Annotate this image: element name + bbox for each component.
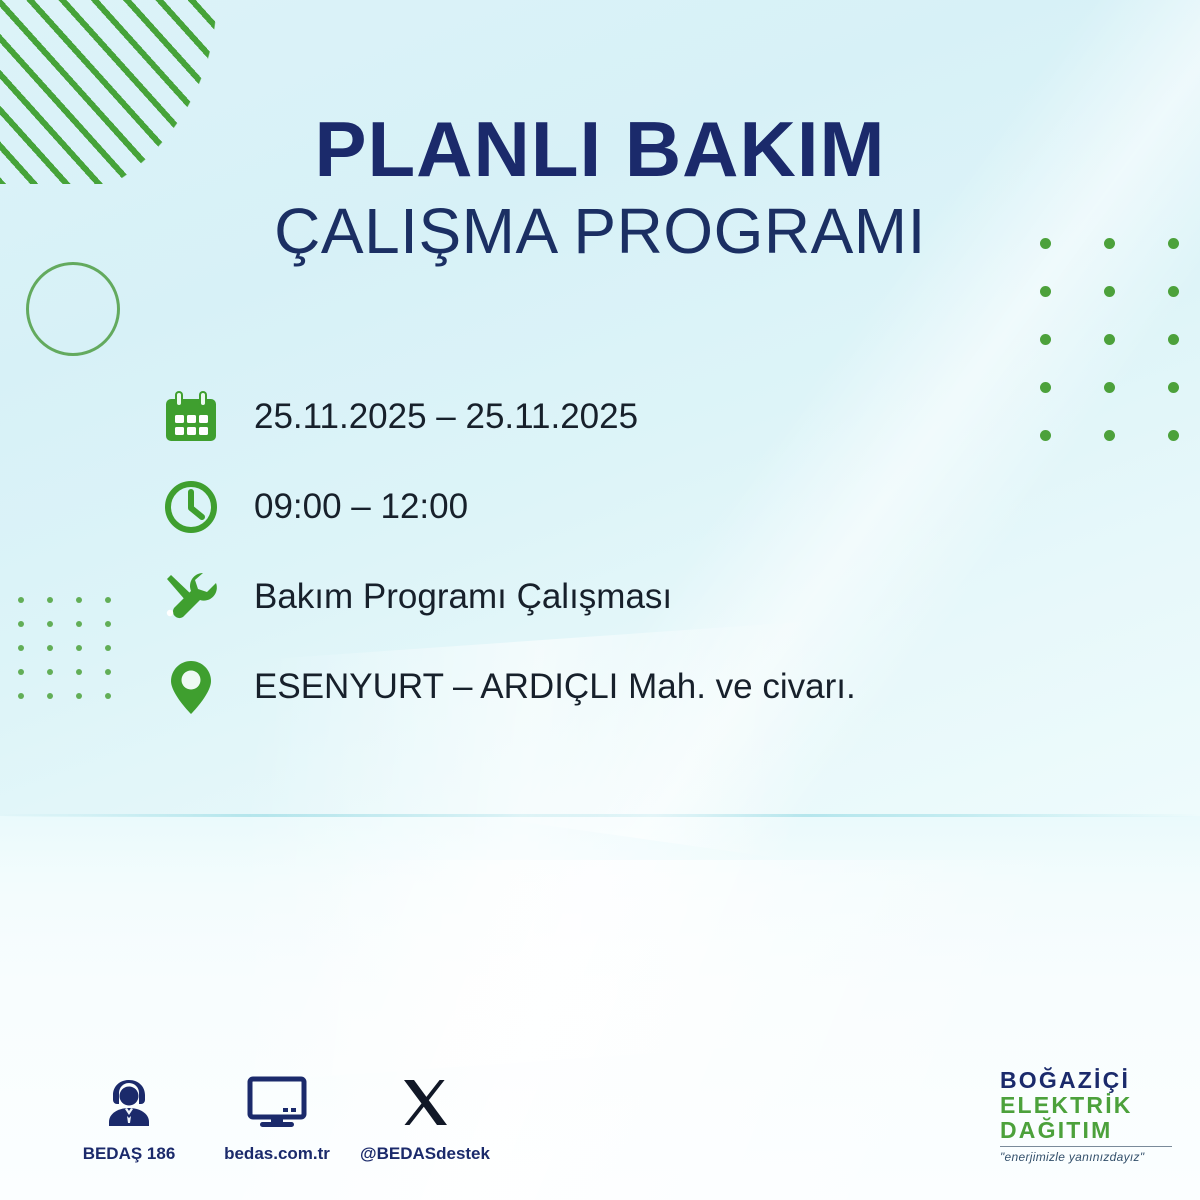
- contact-website[interactable]: bedas.com.tr: [203, 1072, 351, 1164]
- dot-grid-left-decoration: [18, 597, 134, 717]
- time-range-value: 09:00 – 12:00: [254, 487, 468, 527]
- footer-contact-strip: BEDAŞ 186 bedas.com.tr @BEDASdestek: [55, 1072, 499, 1164]
- location-pin-icon: [162, 651, 234, 723]
- dot-decoration: [1104, 286, 1115, 297]
- circle-outline-decoration: [26, 262, 120, 356]
- date-range-value: 25.11.2025 – 25.11.2025: [254, 397, 638, 437]
- planned-maintenance-poster: PLANLI BAKIM ÇALIŞMA PROGRAMI: [0, 0, 1200, 1200]
- page-subtitle: ÇALIŞMA PROGRAMI: [0, 198, 1200, 265]
- dot-decoration: [1168, 382, 1179, 393]
- dot-decoration: [47, 645, 53, 651]
- calendar-icon: [162, 381, 234, 453]
- dot-decoration: [47, 693, 53, 699]
- dot-decoration: [1040, 334, 1051, 345]
- contact-social[interactable]: @BEDASdestek: [351, 1072, 499, 1164]
- brand-tagline: "enerjimizle yanınızdayız": [1000, 1150, 1180, 1164]
- monitor-icon: [247, 1072, 307, 1134]
- location-value: ESENYURT – ARDIÇLI Mah. ve civarı.: [254, 667, 856, 707]
- brand-line-dagitim: DAĞITIM: [1000, 1118, 1180, 1143]
- clock-icon: [162, 471, 234, 543]
- brand-line-elektrik: ELEKTRİK: [1000, 1093, 1180, 1118]
- info-row-work-type: Bakım Programı Çalışması: [162, 552, 1112, 642]
- bedas-brand-logo: BOĞAZİÇİ ELEKTRİK DAĞITIM "enerjimizle y…: [1000, 1068, 1180, 1164]
- dot-decoration: [47, 621, 53, 627]
- dot-decoration: [105, 597, 111, 603]
- work-type-value: Bakım Programı Çalışması: [254, 577, 672, 617]
- info-row-location: ESENYURT – ARDIÇLI Mah. ve civarı.: [162, 642, 1112, 732]
- dot-decoration: [76, 693, 82, 699]
- dot-decoration: [76, 621, 82, 627]
- poster-headline: PLANLI BAKIM ÇALIŞMA PROGRAMI: [0, 110, 1200, 265]
- dot-decoration: [1104, 334, 1115, 345]
- dot-decoration: [18, 597, 24, 603]
- dot-decoration: [1168, 334, 1179, 345]
- contact-call-center[interactable]: BEDAŞ 186: [55, 1072, 203, 1164]
- dot-decoration: [47, 597, 53, 603]
- dot-decoration: [105, 693, 111, 699]
- x-social-icon: [399, 1072, 451, 1134]
- contact-call-center-label: BEDAŞ 186: [83, 1144, 176, 1164]
- dot-decoration: [18, 621, 24, 627]
- dot-decoration: [18, 669, 24, 675]
- contact-social-label: @BEDASdestek: [360, 1144, 490, 1164]
- page-title: PLANLI BAKIM: [0, 110, 1200, 188]
- dot-decoration: [105, 621, 111, 627]
- tools-icon: [162, 561, 234, 633]
- brand-divider: [1000, 1146, 1172, 1147]
- info-row-time: 09:00 – 12:00: [162, 462, 1112, 552]
- dot-decoration: [1168, 430, 1179, 441]
- dot-decoration: [47, 669, 53, 675]
- dot-decoration: [18, 645, 24, 651]
- dot-decoration: [18, 693, 24, 699]
- background-divider-line: [0, 814, 1200, 817]
- brand-line-bogazici: BOĞAZİÇİ: [1000, 1068, 1180, 1093]
- dot-decoration: [76, 669, 82, 675]
- maintenance-details-list: 25.11.2025 – 25.11.2025 09:00 – 12:00: [162, 372, 1112, 732]
- dot-decoration: [1168, 286, 1179, 297]
- dot-decoration: [76, 645, 82, 651]
- dot-decoration: [105, 645, 111, 651]
- info-row-date: 25.11.2025 – 25.11.2025: [162, 372, 1112, 462]
- headset-agent-icon: [101, 1072, 157, 1134]
- contact-website-label: bedas.com.tr: [224, 1144, 330, 1164]
- dot-decoration: [105, 669, 111, 675]
- dot-decoration: [1040, 286, 1051, 297]
- dot-decoration: [76, 597, 82, 603]
